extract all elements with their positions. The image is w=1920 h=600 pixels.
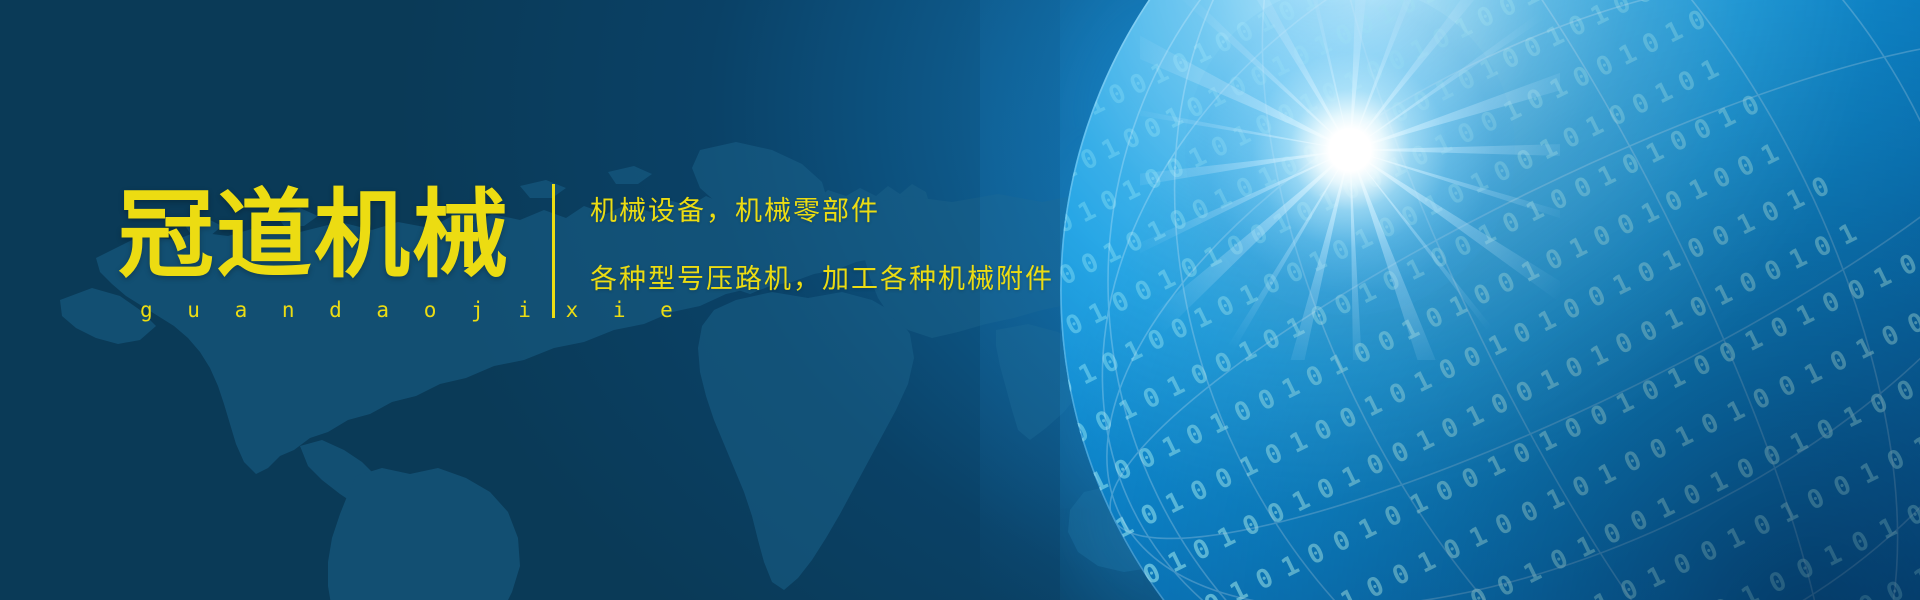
banner-content: 冠道机械 g u a n d a o j i x i e 机械设备，机械零部件 …: [0, 0, 1200, 600]
tagline-group: 机械设备，机械零部件 各种型号压路机，加工各种机械附件: [590, 194, 1190, 296]
brand-name-pinyin: g u a n d a o j i x i e: [118, 298, 518, 322]
vertical-divider: [552, 184, 555, 318]
tagline-secondary: 各种型号压路机，加工各种机械附件: [590, 262, 1190, 296]
hero-banner: 10010100101001010010100101001010 0100101…: [0, 0, 1920, 600]
brand-logo: 冠道机械 g u a n d a o j i x i e: [118, 186, 518, 322]
tagline-primary: 机械设备，机械零部件: [590, 194, 1190, 228]
brand-name-cn: 冠道机械: [118, 186, 518, 286]
